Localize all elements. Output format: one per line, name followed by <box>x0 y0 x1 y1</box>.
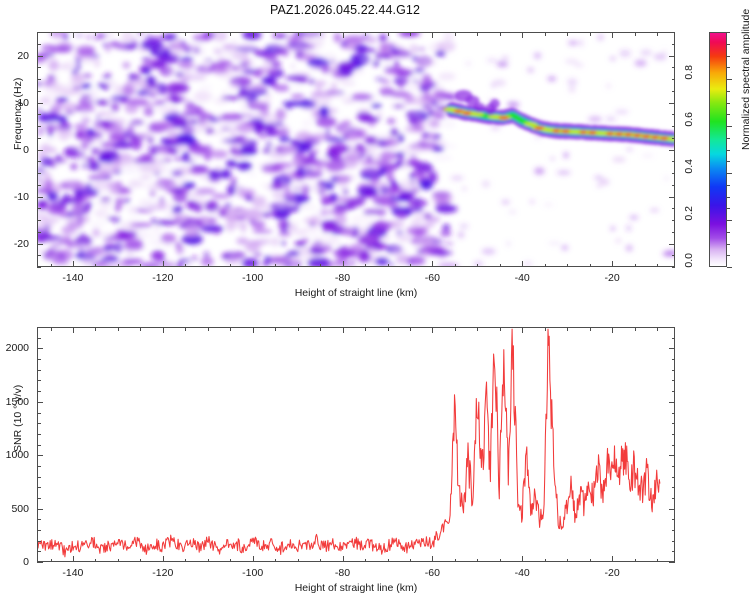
tick-x <box>95 264 96 268</box>
tick-x <box>590 264 591 268</box>
tick-label-x: -60 <box>425 272 440 284</box>
tick-y-right <box>672 91 676 92</box>
tick-y <box>37 413 41 414</box>
tick-x <box>657 559 658 563</box>
tick-y <box>37 232 41 233</box>
tick-y <box>37 455 43 456</box>
spectrogram-xlabel: Height of straight line (km) <box>295 287 418 299</box>
colorbar-gradient <box>710 33 726 266</box>
tick-y-right <box>672 445 676 446</box>
tick-y <box>37 185 41 186</box>
tick-x-top <box>657 32 658 36</box>
tick-x <box>253 261 254 267</box>
tick-x-top <box>635 32 636 36</box>
tick-y-right <box>672 32 676 33</box>
tick-x <box>365 559 366 563</box>
tick-x <box>320 559 321 563</box>
tick-label-x: -20 <box>605 567 620 579</box>
tick-x-top <box>208 32 209 36</box>
tick-y-right <box>672 138 676 139</box>
tick-y <box>37 348 43 349</box>
tick-x-top <box>365 32 366 36</box>
tick-y <box>37 445 41 446</box>
colorbar <box>709 32 727 267</box>
tick-x <box>51 559 52 563</box>
tick-y-right <box>672 267 676 268</box>
tick-x-top <box>320 327 321 331</box>
tick-y-right <box>672 79 676 80</box>
tick-x-top <box>567 327 568 331</box>
colorbar-title: Normalized spectral amplitude <box>740 9 750 150</box>
tick-y-right <box>672 126 676 127</box>
tick-y <box>37 338 41 339</box>
tick-x-top <box>320 32 321 36</box>
tick-y <box>37 79 41 80</box>
tick-x <box>455 264 456 268</box>
tick-x <box>118 559 119 563</box>
tick-x <box>432 261 433 267</box>
tick-x-top <box>185 32 186 36</box>
tick-x <box>635 264 636 268</box>
colorbar-tick-label: 0.0 <box>683 253 695 281</box>
tick-y <box>37 67 41 68</box>
tick-x-top <box>545 327 546 331</box>
tick-label-y: 500 <box>0 503 29 515</box>
tick-y-right <box>672 413 676 414</box>
colorbar-tick-label: 0.2 <box>683 206 695 234</box>
tick-label-x: -140 <box>62 567 83 579</box>
tick-x-top <box>230 32 231 36</box>
tick-y-right <box>669 197 675 198</box>
tick-x-top <box>477 32 478 36</box>
tick-x-top <box>388 327 389 331</box>
tick-y-right <box>672 391 676 392</box>
tick-x <box>163 261 164 267</box>
tick-x <box>567 559 568 563</box>
tick-x <box>208 559 209 563</box>
tick-y-right <box>669 402 675 403</box>
tick-y <box>37 208 41 209</box>
noise-field <box>38 33 459 266</box>
tick-x-top <box>522 32 523 38</box>
tick-y-right <box>672 338 676 339</box>
spectrogram-plot-area <box>37 32 675 267</box>
tick-x-top <box>343 327 344 333</box>
tick-y <box>37 359 41 360</box>
tick-x-top <box>185 327 186 331</box>
colorbar-tick <box>727 150 730 151</box>
tick-x-top <box>545 32 546 36</box>
tick-x <box>298 264 299 268</box>
colorbar-tick-label: 0.6 <box>683 112 695 140</box>
tick-x-top <box>500 327 501 331</box>
tick-x <box>477 264 478 268</box>
tick-x-top <box>275 32 276 36</box>
tick-y <box>37 267 41 268</box>
tick-x-top <box>455 32 456 36</box>
tick-x-top <box>590 327 591 331</box>
tick-x-top <box>455 327 456 331</box>
tick-x <box>208 264 209 268</box>
tick-y-right <box>672 487 676 488</box>
tick-x-top <box>118 32 119 36</box>
colorbar-tick <box>727 44 730 45</box>
colorbar-tick-label: 0.8 <box>683 65 695 93</box>
colorbar-tick <box>727 220 732 221</box>
tick-y-right <box>672 220 676 221</box>
tick-x <box>545 264 546 268</box>
tick-x <box>163 556 164 562</box>
tick-x <box>320 264 321 268</box>
colorbar-tick <box>727 138 730 139</box>
tick-y <box>37 509 43 510</box>
tick-y <box>37 32 41 33</box>
colorbar-tick <box>727 126 732 127</box>
tick-x-top <box>590 32 591 36</box>
tick-x <box>230 264 231 268</box>
tick-x-top <box>73 327 74 333</box>
tick-x-top <box>365 327 366 331</box>
tick-x <box>73 261 74 267</box>
tick-x-top <box>612 32 613 38</box>
tick-x-top <box>275 327 276 331</box>
tick-x <box>185 559 186 563</box>
spectrogram-canvas <box>38 33 674 266</box>
colorbar-tick <box>727 56 730 57</box>
tick-x <box>388 559 389 563</box>
tick-y-right <box>669 56 675 57</box>
tick-x <box>635 559 636 563</box>
tick-y <box>37 562 43 563</box>
tick-x-top <box>635 327 636 331</box>
tick-y <box>37 530 41 531</box>
tick-x <box>455 559 456 563</box>
tick-x-top <box>230 327 231 331</box>
tick-y-right <box>669 455 675 456</box>
colorbar-tick <box>727 244 730 245</box>
tick-label-y: 2000 <box>0 342 29 354</box>
tick-y-right <box>672 232 676 233</box>
tick-y-right <box>669 103 675 104</box>
tick-label-y: -10 <box>0 191 29 203</box>
tick-x-top <box>567 32 568 36</box>
snr-trace <box>38 329 660 557</box>
snr-xlabel: Height of straight line (km) <box>295 582 418 594</box>
tick-x <box>51 264 52 268</box>
tick-y-right <box>672 255 676 256</box>
tick-label-x: -40 <box>515 567 530 579</box>
tick-x <box>230 559 231 563</box>
tick-y <box>37 56 43 57</box>
tick-x-top <box>432 327 433 333</box>
colorbar-tick <box>727 255 730 256</box>
tick-label-x: -40 <box>515 272 530 284</box>
tick-x <box>410 559 411 563</box>
tick-y <box>37 138 41 139</box>
colorbar-tick <box>727 114 730 115</box>
tick-x <box>253 556 254 562</box>
tick-x-top <box>95 327 96 331</box>
tick-y <box>37 91 41 92</box>
colorbar-tick <box>727 197 730 198</box>
tick-y-right <box>672 161 676 162</box>
tick-x <box>275 559 276 563</box>
tick-label-x: -60 <box>425 567 440 579</box>
noise-tail <box>451 34 674 266</box>
tick-y-right <box>672 185 676 186</box>
tick-y <box>37 150 43 151</box>
tick-x-top <box>298 32 299 36</box>
tick-y <box>37 126 41 127</box>
tick-y <box>37 402 43 403</box>
tick-x <box>388 264 389 268</box>
tick-y-right <box>672 477 676 478</box>
tick-x-top <box>343 32 344 38</box>
tick-x <box>298 559 299 563</box>
tick-y-right <box>672 551 676 552</box>
tick-label-x: -80 <box>335 272 350 284</box>
tick-y-right <box>672 466 676 467</box>
tick-x <box>118 264 119 268</box>
tick-x-top <box>163 327 164 333</box>
tick-label-y: -20 <box>0 238 29 250</box>
tick-y-right <box>672 114 676 115</box>
tick-x <box>432 556 433 562</box>
tick-label-y: 0 <box>0 556 29 568</box>
tick-label-x: -120 <box>152 272 173 284</box>
tick-y <box>37 477 41 478</box>
figure-title: PAZ1.2026.045.22.44.G12 <box>0 3 690 17</box>
colorbar-tick <box>727 91 730 92</box>
tick-y-right <box>672 208 676 209</box>
tick-x-top <box>163 32 164 38</box>
tick-x <box>185 264 186 268</box>
tick-y <box>37 551 41 552</box>
tick-label-x: -100 <box>242 272 263 284</box>
colorbar-tick <box>727 232 730 233</box>
tick-y <box>37 434 41 435</box>
tick-x <box>365 264 366 268</box>
tick-x-top <box>51 32 52 36</box>
tick-x-top <box>253 32 254 38</box>
tick-y <box>37 391 41 392</box>
colorbar-tick <box>727 185 730 186</box>
tick-y-right <box>672 173 676 174</box>
tick-y <box>37 161 41 162</box>
tick-x <box>477 559 478 563</box>
spectrogram-ylabel: Frequency (Hz) <box>12 78 24 150</box>
tick-y-right <box>672 359 676 360</box>
tick-x <box>567 264 568 268</box>
colorbar-tick <box>727 208 730 209</box>
tick-x-top <box>118 327 119 331</box>
tick-x-top <box>410 32 411 36</box>
tick-y-right <box>669 562 675 563</box>
tick-y-right <box>672 434 676 435</box>
tick-y <box>37 370 41 371</box>
tick-y-right <box>672 519 676 520</box>
tick-x <box>590 559 591 563</box>
colorbar-tick <box>727 103 730 104</box>
tick-y-right <box>672 423 676 424</box>
colorbar-tick <box>727 173 732 174</box>
tick-x <box>545 559 546 563</box>
tick-y <box>37 541 41 542</box>
tick-y-right <box>669 509 675 510</box>
colorbar-tick <box>727 67 730 68</box>
signal-ridge <box>443 90 674 147</box>
tick-y <box>37 255 41 256</box>
tick-x <box>73 556 74 562</box>
tick-label-y: 20 <box>0 50 29 62</box>
tick-x <box>140 264 141 268</box>
tick-y <box>37 173 41 174</box>
snr-canvas <box>38 328 674 561</box>
tick-x <box>500 559 501 563</box>
tick-x <box>275 264 276 268</box>
tick-y <box>37 423 41 424</box>
tick-y <box>37 114 41 115</box>
tick-x-top <box>432 32 433 38</box>
spectrogram-image <box>38 33 674 266</box>
tick-x <box>612 556 613 562</box>
tick-x-top <box>73 32 74 38</box>
tick-label-x: -140 <box>62 272 83 284</box>
tick-x <box>140 559 141 563</box>
tick-x-top <box>298 327 299 331</box>
tick-y <box>37 380 41 381</box>
tick-y-right <box>669 150 675 151</box>
figure-root: PAZ1.2026.045.22.44.G12 -140-120-100-80-… <box>0 0 750 600</box>
tick-x <box>95 559 96 563</box>
tick-y-right <box>672 541 676 542</box>
tick-x-top <box>522 327 523 333</box>
tick-x <box>522 261 523 267</box>
tick-x <box>612 261 613 267</box>
tick-x-top <box>51 327 52 331</box>
tick-x <box>657 264 658 268</box>
tick-y <box>37 44 41 45</box>
tick-y <box>37 220 41 221</box>
tick-y <box>37 197 43 198</box>
tick-y <box>37 103 43 104</box>
tick-label-x: -20 <box>605 272 620 284</box>
tick-y-right <box>672 67 676 68</box>
tick-x-top <box>208 327 209 331</box>
tick-x <box>343 261 344 267</box>
colorbar-tick <box>727 32 730 33</box>
tick-label-x: -100 <box>242 567 263 579</box>
tick-x-top <box>657 327 658 331</box>
tick-x-top <box>477 327 478 331</box>
tick-y-right <box>669 348 675 349</box>
tick-y <box>37 244 43 245</box>
tick-x-top <box>500 32 501 36</box>
tick-y <box>37 466 41 467</box>
tick-y-right <box>669 244 675 245</box>
tick-x <box>522 556 523 562</box>
tick-x-top <box>95 32 96 36</box>
tick-y-right <box>672 370 676 371</box>
tick-x-top <box>140 327 141 331</box>
snr-line-series <box>38 328 674 561</box>
tick-y <box>37 487 41 488</box>
tick-label-x: -80 <box>335 567 350 579</box>
tick-x <box>410 264 411 268</box>
colorbar-tick <box>727 79 732 80</box>
tick-x-top <box>612 327 613 333</box>
tick-y <box>37 519 41 520</box>
tick-y-right <box>672 327 676 328</box>
tick-y-right <box>672 44 676 45</box>
tick-x-top <box>410 327 411 331</box>
tick-x-top <box>140 32 141 36</box>
tick-y <box>37 498 41 499</box>
snr-plot-area <box>37 327 675 562</box>
tick-y <box>37 327 41 328</box>
colorbar-tick <box>727 161 730 162</box>
tick-x <box>343 556 344 562</box>
tick-y-right <box>672 530 676 531</box>
snr-ylabel: SNR (10 ° v/v) <box>12 385 24 452</box>
tick-x-top <box>388 32 389 36</box>
tick-label-x: -120 <box>152 567 173 579</box>
colorbar-tick-label: 0.4 <box>683 159 695 187</box>
tick-x-top <box>253 327 254 333</box>
tick-y-right <box>672 498 676 499</box>
colorbar-tick <box>727 267 732 268</box>
tick-x <box>500 264 501 268</box>
tick-y-right <box>672 380 676 381</box>
